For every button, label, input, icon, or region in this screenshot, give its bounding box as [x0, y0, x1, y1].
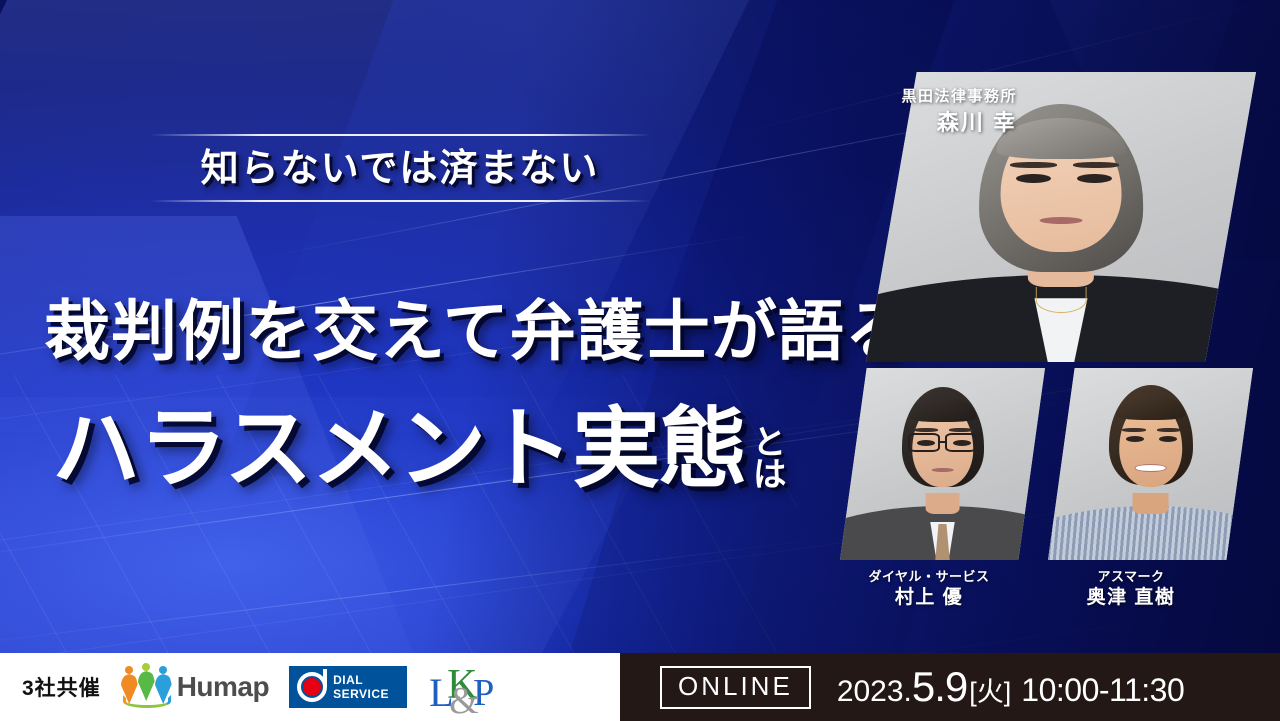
- event-day-of-week: [火]: [969, 670, 1011, 709]
- footer-bar: 3社共催 Humap: [0, 653, 1280, 721]
- subtitle-text: 知らないでは済まない: [150, 136, 650, 200]
- footer-schedule: ONLINE 2023. 5.9 [火] 10:00-11:30: [620, 653, 1280, 721]
- dial-service-wordmark: DIAL SERVICE: [333, 673, 389, 701]
- headline-line-2: ハラスメント実態: [52, 396, 746, 500]
- speaker-org: ダイヤル・サービス: [844, 568, 1014, 586]
- event-year: 2023.: [837, 675, 912, 709]
- humap-wordmark: Humap: [177, 671, 269, 703]
- speaker-name: 森川 幸: [875, 108, 1017, 138]
- speaker-org: 黒田法律事務所: [875, 86, 1017, 108]
- dial-line-2: SERVICE: [333, 687, 389, 701]
- speaker-caption-left: ダイヤル・サービス 村上 優: [844, 568, 1014, 610]
- dial-line-1: DIAL: [333, 673, 389, 687]
- lkp-ampersand: &: [449, 679, 479, 721]
- dial-d-stem-icon: [323, 669, 327, 687]
- portrait-brow-left: [1010, 162, 1057, 168]
- portrait-mouth: [1040, 217, 1083, 224]
- speaker-caption-main: 黒田法律事務所 森川 幸: [875, 86, 1017, 138]
- portrait-illustration: [1048, 368, 1253, 560]
- speaker-org: アスマーク: [1046, 568, 1216, 586]
- headline-suffix: とは: [748, 424, 784, 488]
- portrait-neck: [925, 493, 960, 514]
- humap-figure-head-icon: [125, 666, 133, 674]
- event-time-range: 10:00-11:30: [1021, 672, 1184, 709]
- portrait-brow-right: [949, 428, 974, 432]
- speaker-name: 村上 優: [844, 586, 1014, 610]
- portrait-neck: [1132, 493, 1169, 514]
- portrait-brow-left: [914, 428, 939, 432]
- dial-service-mark-icon: [297, 672, 327, 702]
- speaker-photo-left: [840, 368, 1045, 560]
- humap-figure-head-icon: [159, 666, 167, 674]
- humap-figure-head-icon: [142, 663, 150, 671]
- portrait-brow-right: [1157, 428, 1182, 432]
- portrait-shoulders: [1048, 506, 1253, 560]
- footer-sponsors: 3社共催 Humap: [0, 653, 620, 721]
- portrait-necklace: [1036, 287, 1087, 313]
- portrait-brow-left: [1122, 428, 1147, 432]
- webinar-banner: 知らないでは済まない 裁判例を交えて弁護士が語る ハラスメント実態 とは: [0, 0, 1280, 721]
- humap-mark-icon: [121, 665, 173, 709]
- headline-block: 知らないでは済まない 裁判例を交えて弁護士が語る ハラスメント実態 とは: [0, 0, 860, 640]
- humap-swoosh-icon: [123, 695, 171, 708]
- speaker-caption-right: アスマーク 奥津 直樹: [1046, 568, 1216, 610]
- headline-line-1: 裁判例を交えて弁護士が語る: [44, 292, 912, 370]
- lkp-logo: L K P &: [427, 661, 505, 713]
- portrait-eye-left: [1016, 174, 1051, 183]
- cohost-label: 3社共催: [22, 672, 101, 702]
- speaker-photo-right: [1048, 368, 1253, 560]
- event-datetime: 2023. 5.9 [火] 10:00-11:30: [837, 663, 1184, 711]
- portrait-illustration: [840, 368, 1045, 560]
- online-badge: ONLINE: [660, 666, 811, 709]
- dial-red-dot-icon: [303, 678, 321, 696]
- portrait-mouth: [1134, 464, 1167, 472]
- portrait-glasses-bridge: [940, 441, 945, 443]
- speaker-name: 奥津 直樹: [1046, 586, 1216, 610]
- subtitle-rule-bottom: [150, 200, 650, 202]
- portrait-brow-right: [1073, 162, 1120, 168]
- dial-service-logo: DIAL SERVICE: [289, 666, 407, 708]
- portrait-mouth: [931, 468, 954, 473]
- event-month-day: 5.9: [912, 663, 967, 711]
- portrait-eye-right: [1077, 174, 1112, 183]
- subtitle-group: 知らないでは済まない: [150, 134, 650, 202]
- humap-logo: Humap: [121, 665, 269, 709]
- headline-line-2-group: ハラスメント実態 とは: [52, 396, 784, 500]
